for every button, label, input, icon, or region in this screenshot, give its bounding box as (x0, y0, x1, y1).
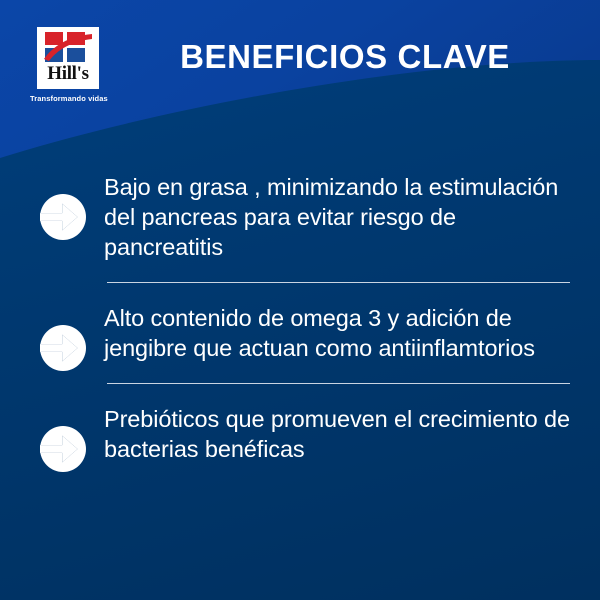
arrow-right-circle-icon (40, 426, 86, 472)
divider (107, 383, 570, 384)
list-item: Alto contenido de omega 3 y adición de j… (0, 291, 600, 375)
list-item: Bajo en grasa , minimizando la estimulac… (0, 160, 600, 274)
list-item: Prebióticos que promueven el crecimiento… (0, 392, 600, 476)
hills-shield-logo-icon (43, 32, 93, 62)
benefits-list: Bajo en grasa , minimizando la estimulac… (0, 160, 600, 476)
brand-logo: Hill's Transformando vidas (30, 27, 106, 103)
benefits-poster: Hill's Transformando vidas BENEFICIOS CL… (0, 0, 600, 600)
logo-tagline: Transformando vidas (30, 94, 106, 103)
divider (107, 282, 570, 283)
arrow-right-circle-icon (40, 194, 86, 240)
list-item-label: Alto contenido de omega 3 y adición de j… (104, 291, 570, 375)
logo-shield-box: Hill's (37, 27, 99, 89)
arrow-right-circle-icon (40, 325, 86, 371)
page-title: BENEFICIOS CLAVE (120, 38, 570, 76)
list-item-label: Prebióticos que promueven el crecimiento… (104, 392, 570, 476)
list-item-label: Bajo en grasa , minimizando la estimulac… (104, 160, 570, 274)
logo-wordmark: Hill's (43, 63, 93, 85)
